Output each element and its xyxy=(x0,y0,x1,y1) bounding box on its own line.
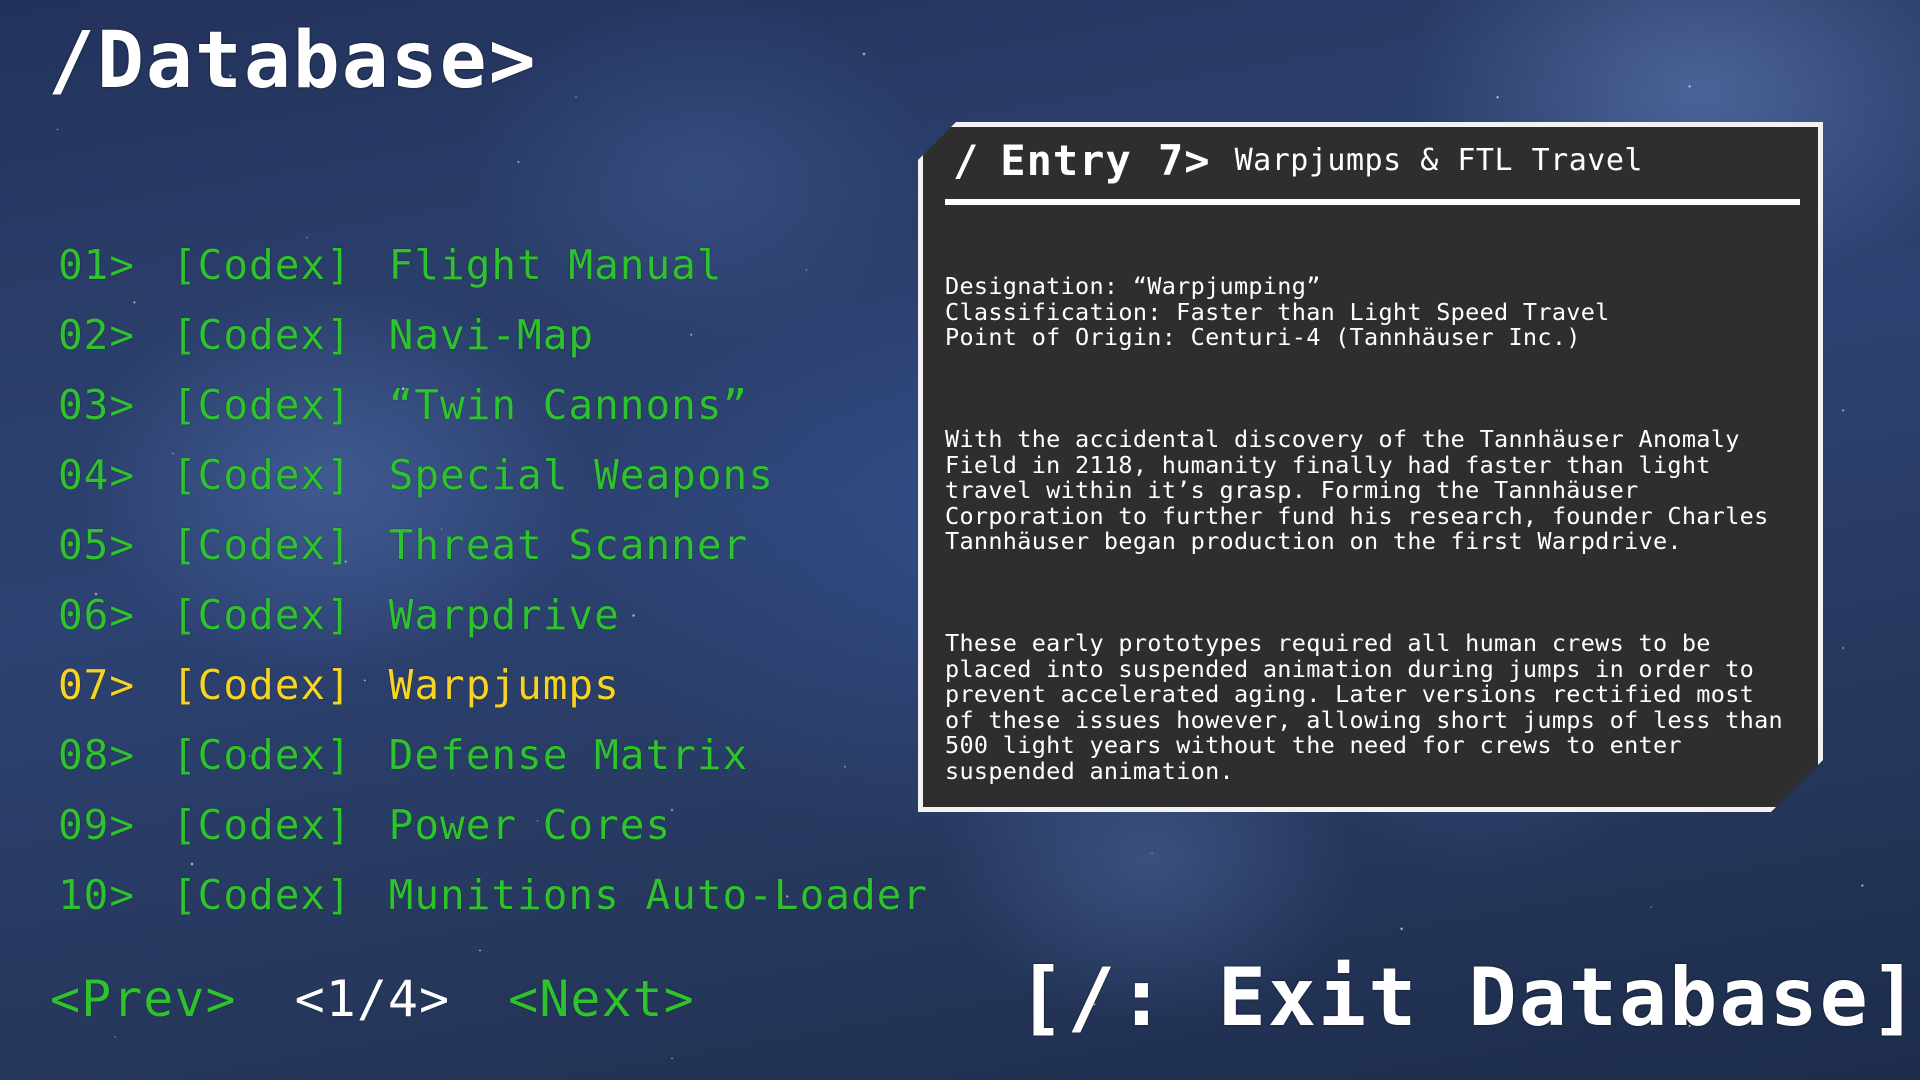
entry-number: 08> xyxy=(58,731,135,779)
entry-type-tag: [Codex] xyxy=(172,451,352,499)
exit-database-button[interactable]: [/: Exit Database] xyxy=(1017,951,1920,1044)
entry-title: “Twin Cannons” xyxy=(389,381,749,429)
entry-number: 06> xyxy=(58,591,135,639)
entry-type-tag: [Codex] xyxy=(172,381,352,429)
entry-type-tag: [Codex] xyxy=(172,311,352,359)
entry-number: 02> xyxy=(58,311,135,359)
entry-number: 04> xyxy=(58,451,135,499)
entry-title: Special Weapons xyxy=(389,451,774,499)
entry-type-tag: [Codex] xyxy=(172,871,352,919)
pagination-nav: <Prev> <1/4> <Next> xyxy=(50,970,695,1028)
detail-paragraph-2: These early prototypes required all huma… xyxy=(945,631,1796,784)
entry-number: 03> xyxy=(58,381,135,429)
entry-title: Warpjumps xyxy=(389,661,620,709)
codex-entry-row[interactable]: 10>[Codex]Munitions Auto-Loader xyxy=(58,860,1058,930)
detail-entry-number: Entry 7> xyxy=(1000,140,1210,182)
entry-number: 09> xyxy=(58,801,135,849)
entry-number: 01> xyxy=(58,241,135,289)
codex-entry-row[interactable]: 04>[Codex]Special Weapons xyxy=(58,440,1058,510)
detail-entry-subtitle: Warpjumps & FTL Travel xyxy=(1235,146,1643,176)
page-title: /Database> xyxy=(48,22,538,100)
detail-panel-body: Designation: “Warpjumping” Classificatio… xyxy=(945,223,1796,785)
database-screen: /Database> 01>[Codex]Flight Manual02>[Co… xyxy=(0,0,1920,1080)
page-indicator: <1/4> xyxy=(295,970,451,1028)
next-page-button[interactable]: <Next> xyxy=(508,970,695,1028)
entry-type-tag: [Codex] xyxy=(172,661,352,709)
entry-number: 10> xyxy=(58,871,135,919)
codex-entry-list: 01>[Codex]Flight Manual02>[Codex]Navi-Ma… xyxy=(58,230,1058,930)
codex-entry-row[interactable]: 07>[Codex]Warpjumps xyxy=(58,650,1058,720)
codex-entry-row[interactable]: 02>[Codex]Navi-Map xyxy=(58,300,1058,370)
entry-title: Warpdrive xyxy=(389,591,620,639)
entry-number: 05> xyxy=(58,521,135,569)
header-divider xyxy=(945,199,1800,205)
entry-title: Munitions Auto-Loader xyxy=(389,871,928,919)
codex-entry-row[interactable]: 05>[Codex]Threat Scanner xyxy=(58,510,1058,580)
entry-title: Flight Manual xyxy=(389,241,723,289)
codex-entry-row[interactable]: 08>[Codex]Defense Matrix xyxy=(58,720,1058,790)
slash-icon: / xyxy=(953,140,978,182)
codex-entry-row[interactable]: 09>[Codex]Power Cores xyxy=(58,790,1058,860)
detail-panel-header: / Entry 7> Warpjumps & FTL Travel xyxy=(923,127,1818,195)
entry-type-tag: [Codex] xyxy=(172,521,352,569)
detail-metadata: Designation: “Warpjumping” Classificatio… xyxy=(945,274,1796,351)
entry-number: 07> xyxy=(58,661,135,709)
entry-title: Power Cores xyxy=(389,801,672,849)
codex-entry-row[interactable]: 03>[Codex]“Twin Cannons” xyxy=(58,370,1058,440)
entry-title: Defense Matrix xyxy=(389,731,749,779)
entry-type-tag: [Codex] xyxy=(172,731,352,779)
codex-entry-row[interactable]: 01>[Codex]Flight Manual xyxy=(58,230,1058,300)
prev-page-button[interactable]: <Prev> xyxy=(50,970,237,1028)
detail-paragraph-1: With the accidental discovery of the Tan… xyxy=(945,427,1796,555)
entry-type-tag: [Codex] xyxy=(172,241,352,289)
entry-title: Navi-Map xyxy=(389,311,594,359)
entry-title: Threat Scanner xyxy=(389,521,749,569)
entry-type-tag: [Codex] xyxy=(172,591,352,639)
entry-type-tag: [Codex] xyxy=(172,801,352,849)
codex-entry-row[interactable]: 06>[Codex]Warpdrive xyxy=(58,580,1058,650)
codex-detail-panel: / Entry 7> Warpjumps & FTL Travel Design… xyxy=(918,122,1823,812)
